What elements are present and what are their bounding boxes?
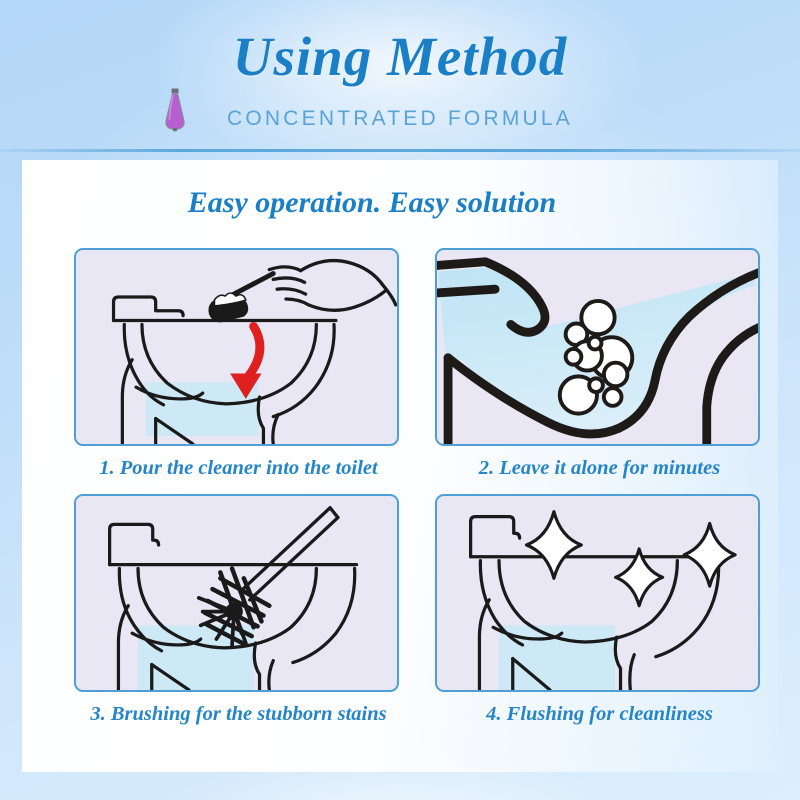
- page-title: Using Method: [0, 25, 800, 88]
- steps-row-bottom: 3. Brushing for the stubborn stains: [74, 494, 764, 726]
- steps-row-top: 1. Pour the cleaner into the toilet: [74, 248, 764, 480]
- step-2: 2. Leave it alone for minutes: [435, 248, 764, 480]
- clean-toilet-with-sparkles-drawing: [437, 496, 758, 690]
- steps-grid: 1. Pour the cleaner into the toilet: [74, 248, 764, 740]
- step-2-caption: 2. Leave it alone for minutes: [435, 457, 764, 480]
- step-1: 1. Pour the cleaner into the toilet: [74, 248, 403, 480]
- content-card: Easy operation. Easy solution: [22, 160, 778, 772]
- sparkle-icon: [526, 512, 735, 606]
- toilet-bowl-closeup-with-bubbles-drawing: [437, 250, 758, 444]
- step-4-caption: 4. Flushing for cleanliness: [435, 703, 764, 726]
- header: Using Method CONCENTRATED FORMULA: [0, 0, 800, 150]
- step-3: 3. Brushing for the stubborn stains: [74, 494, 403, 726]
- step-1-illustration: [74, 248, 399, 446]
- toilet-brush-scrubbing-bowl-drawing: [76, 496, 397, 690]
- page-subtitle: CONCENTRATED FORMULA: [0, 107, 800, 131]
- section-title: Easy operation. Easy solution: [22, 186, 722, 220]
- step-4: 4. Flushing for cleanliness: [435, 494, 764, 726]
- header-divider: [0, 149, 800, 152]
- step-1-caption: 1. Pour the cleaner into the toilet: [74, 457, 403, 480]
- step-3-caption: 3. Brushing for the stubborn stains: [74, 703, 403, 726]
- spoon-icon: [208, 274, 273, 323]
- step-2-illustration: [435, 248, 760, 446]
- step-3-illustration: [74, 494, 399, 692]
- hand-pouring-powder-into-toilet-drawing: [76, 250, 397, 444]
- infographic-page: Using Method CONCENTRATED FORMULA Easy o…: [0, 0, 800, 800]
- hand-icon: [269, 261, 395, 311]
- water-icon: [138, 625, 254, 690]
- step-4-illustration: [435, 494, 760, 692]
